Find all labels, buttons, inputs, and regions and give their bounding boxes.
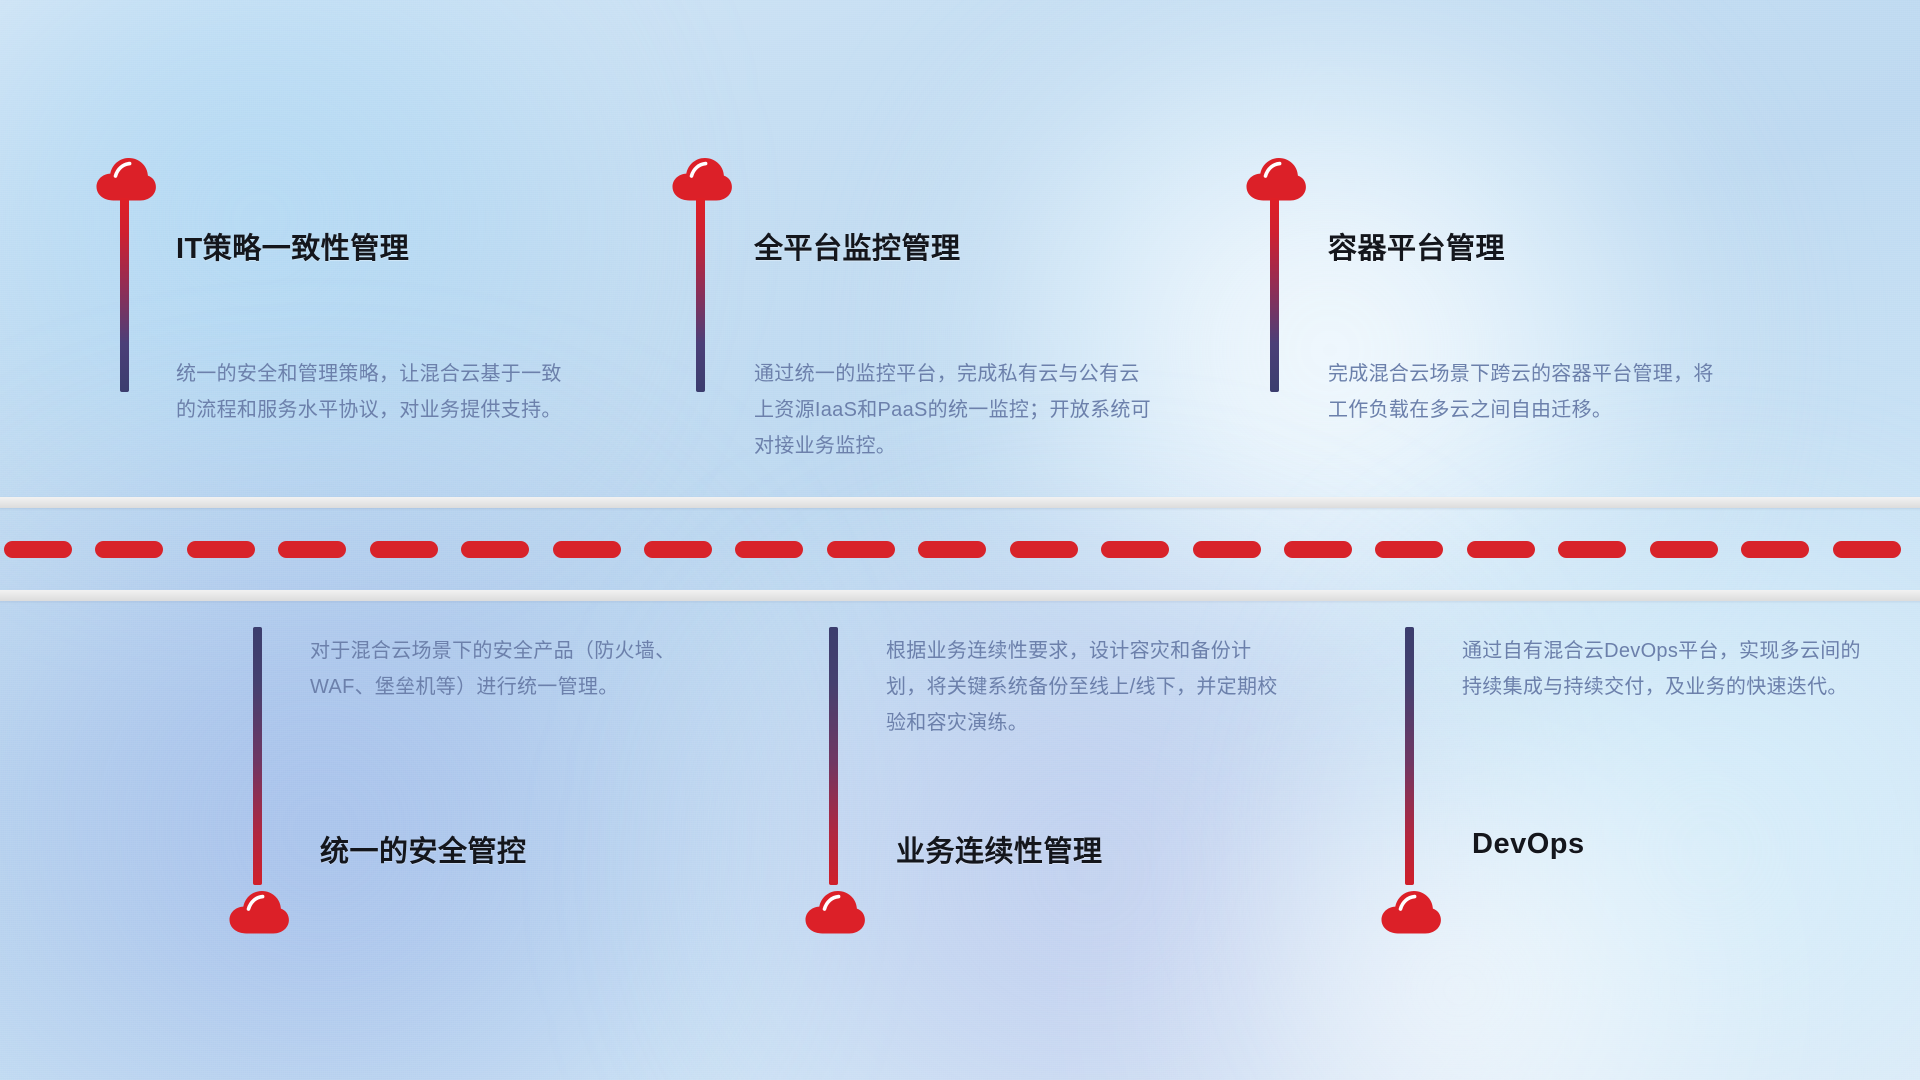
bottom-item-3-body: 通过自有混合云DevOps平台，实现多云间的持续集成与持续交付，及业务的快速迭代… xyxy=(1462,633,1867,705)
cloud-icon xyxy=(671,157,733,201)
top-item-1-body: 统一的安全和管理策略，让混合云基于一致的流程和服务水平协议，对业务提供支持。 xyxy=(176,356,571,428)
road-line-upper xyxy=(0,497,1920,508)
road-dash xyxy=(918,541,986,558)
road-dash xyxy=(1284,541,1352,558)
bottom-item-1-title: 统一的安全管控 xyxy=(320,828,527,870)
connector-stem xyxy=(120,198,129,392)
connector-stem xyxy=(253,627,262,885)
bottom-item-3-title: DevOps xyxy=(1472,828,1585,861)
cloud-icon xyxy=(804,890,866,934)
road-dash xyxy=(278,541,346,558)
bottom-item-2-body: 根据业务连续性要求，设计容灾和备份计划，将关键系统备份至线上/线下，并定期校验和… xyxy=(886,633,1291,741)
top-item-3-body: 完成混合云场景下跨云的容器平台管理，将工作负载在多云之间自由迁移。 xyxy=(1328,356,1728,428)
cloud-icon xyxy=(1245,157,1307,201)
road-dash xyxy=(370,541,438,558)
road-dash xyxy=(1101,541,1169,558)
infographic-canvas: IT策略一致性管理 统一的安全和管理策略，让混合云基于一致的流程和服务水平协议，… xyxy=(0,0,1920,1080)
top-item-2-body: 通过统一的监控平台，完成私有云与公有云上资源IaaS和PaaS的统一监控；开放系… xyxy=(754,356,1154,464)
road-dash xyxy=(1010,541,1078,558)
connector-stem xyxy=(1270,198,1279,392)
road-dash xyxy=(4,541,72,558)
road-dash xyxy=(1650,541,1718,558)
road-dash xyxy=(735,541,803,558)
cloud-icon xyxy=(95,157,157,201)
road-dash xyxy=(1375,541,1443,558)
bottom-item-1-body: 对于混合云场景下的安全产品（防火墙、WAF、堡垒机等）进行统一管理。 xyxy=(310,633,710,705)
road-dash xyxy=(644,541,712,558)
road-line-lower xyxy=(0,590,1920,601)
bottom-item-2-title: 业务连续性管理 xyxy=(896,828,1103,870)
road-dash xyxy=(95,541,163,558)
connector-stem xyxy=(696,198,705,392)
cloud-icon xyxy=(1380,890,1442,934)
top-item-1-title: IT策略一致性管理 xyxy=(176,225,409,267)
road-dash xyxy=(827,541,895,558)
top-item-2-title: 全平台监控管理 xyxy=(754,225,961,267)
connector-stem xyxy=(1405,627,1414,885)
road-dash xyxy=(1833,541,1901,558)
road-dash-line xyxy=(0,541,1920,558)
road-dash xyxy=(553,541,621,558)
road-dash xyxy=(1741,541,1809,558)
road-dash xyxy=(187,541,255,558)
cloud-icon xyxy=(228,890,290,934)
road-dash xyxy=(1467,541,1535,558)
road-dash xyxy=(461,541,529,558)
road-dash xyxy=(1193,541,1261,558)
top-item-3-title: 容器平台管理 xyxy=(1328,225,1505,267)
connector-stem xyxy=(829,627,838,885)
road-dash xyxy=(1558,541,1626,558)
